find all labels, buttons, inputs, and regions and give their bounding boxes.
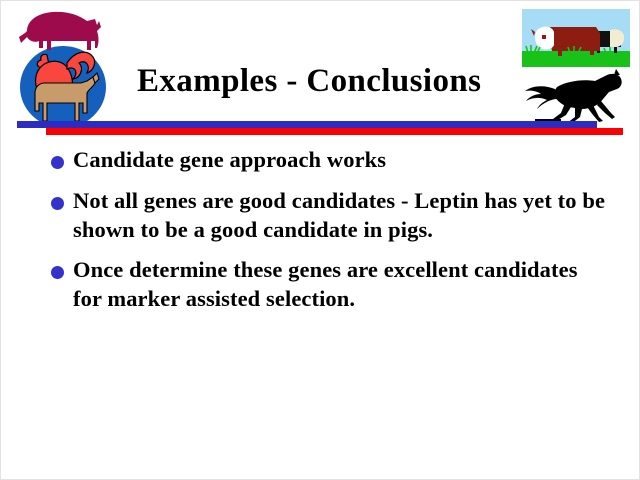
bullet-text: Candidate gene approach works (73, 146, 611, 175)
slide-canvas: Examples - Conclusions Candidate gene ap… (0, 0, 640, 480)
bullet-text: Not all genes are good candidates - Lept… (73, 187, 611, 245)
divider-bar-red (46, 128, 623, 135)
page-title: Examples - Conclusions (137, 63, 517, 99)
divider-bar-blue (17, 121, 597, 128)
list-item: Not all genes are good candidates - Lept… (51, 187, 611, 245)
list-item: Once determine these genes are excellent… (51, 256, 611, 314)
livestock-logo (9, 3, 119, 129)
bullet-text: Once determine these genes are excellent… (73, 256, 611, 314)
cattle-pasture-photo (522, 9, 630, 67)
bullet-dot-icon (51, 197, 64, 210)
bullet-list: Candidate gene approach works Not all ge… (51, 146, 611, 314)
galloping-horse-silhouette (517, 69, 635, 125)
photo-grass (522, 51, 630, 67)
bullet-dot-icon (51, 266, 64, 279)
pig-icon (19, 12, 101, 50)
bullet-dot-icon (51, 156, 64, 169)
list-item: Candidate gene approach works (51, 146, 611, 175)
